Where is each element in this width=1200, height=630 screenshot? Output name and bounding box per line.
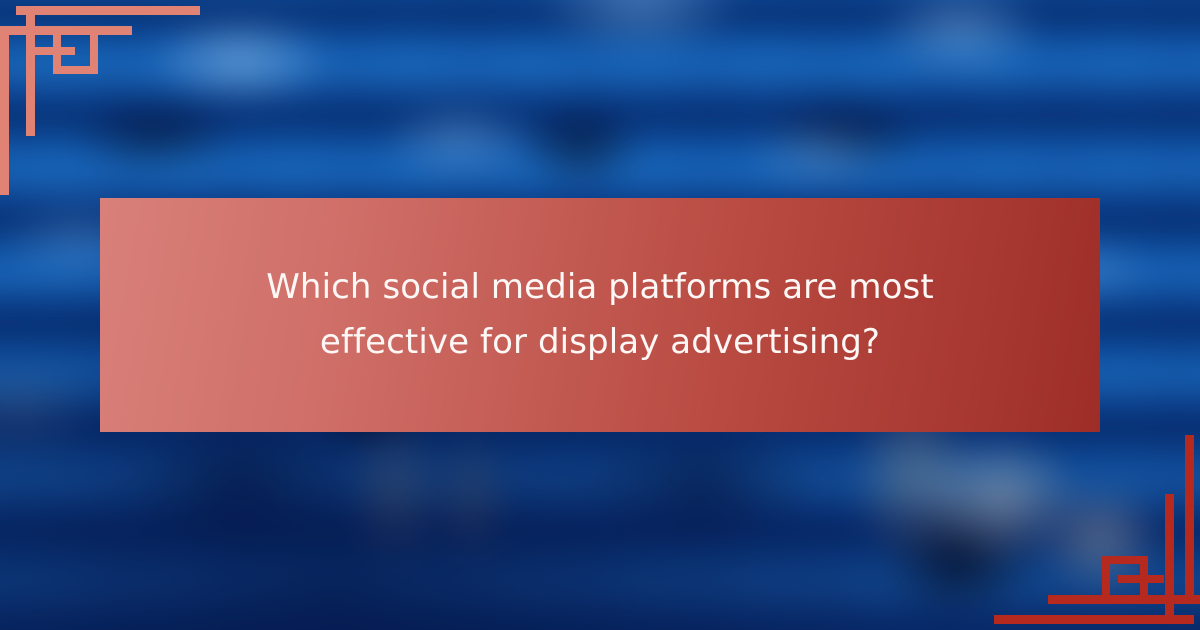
headline-banner: Which social media platforms are most ef… [100,198,1100,432]
poster-canvas: Which social media platforms are most ef… [0,0,1200,630]
headline-text: Which social media platforms are most ef… [220,260,980,370]
corner-frame-top-left-icon [0,0,230,230]
corner-frame-bottom-right-icon [970,400,1200,630]
